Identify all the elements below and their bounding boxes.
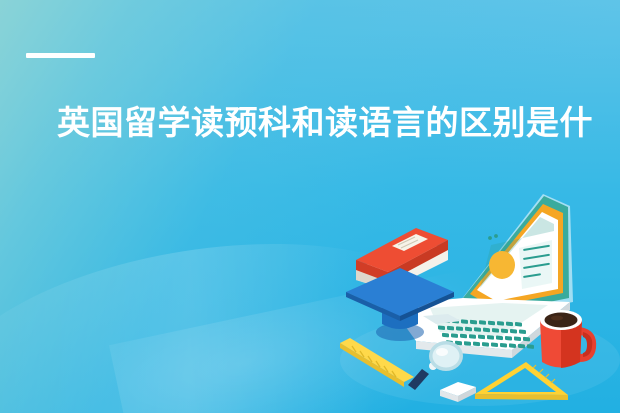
coffee-surface xyxy=(545,313,578,328)
education-illustration xyxy=(330,190,620,413)
banner-title: 英国留学读预科和读语言的区别是什 xyxy=(57,101,620,145)
coffee-mug xyxy=(540,310,596,368)
browser-dot-2 xyxy=(494,234,498,238)
accent-rule xyxy=(26,53,95,58)
screen-avatar xyxy=(489,251,515,279)
browser-dot-1 xyxy=(488,236,492,240)
banner: 英国留学读预科和读语言的区别是什 xyxy=(0,0,620,413)
